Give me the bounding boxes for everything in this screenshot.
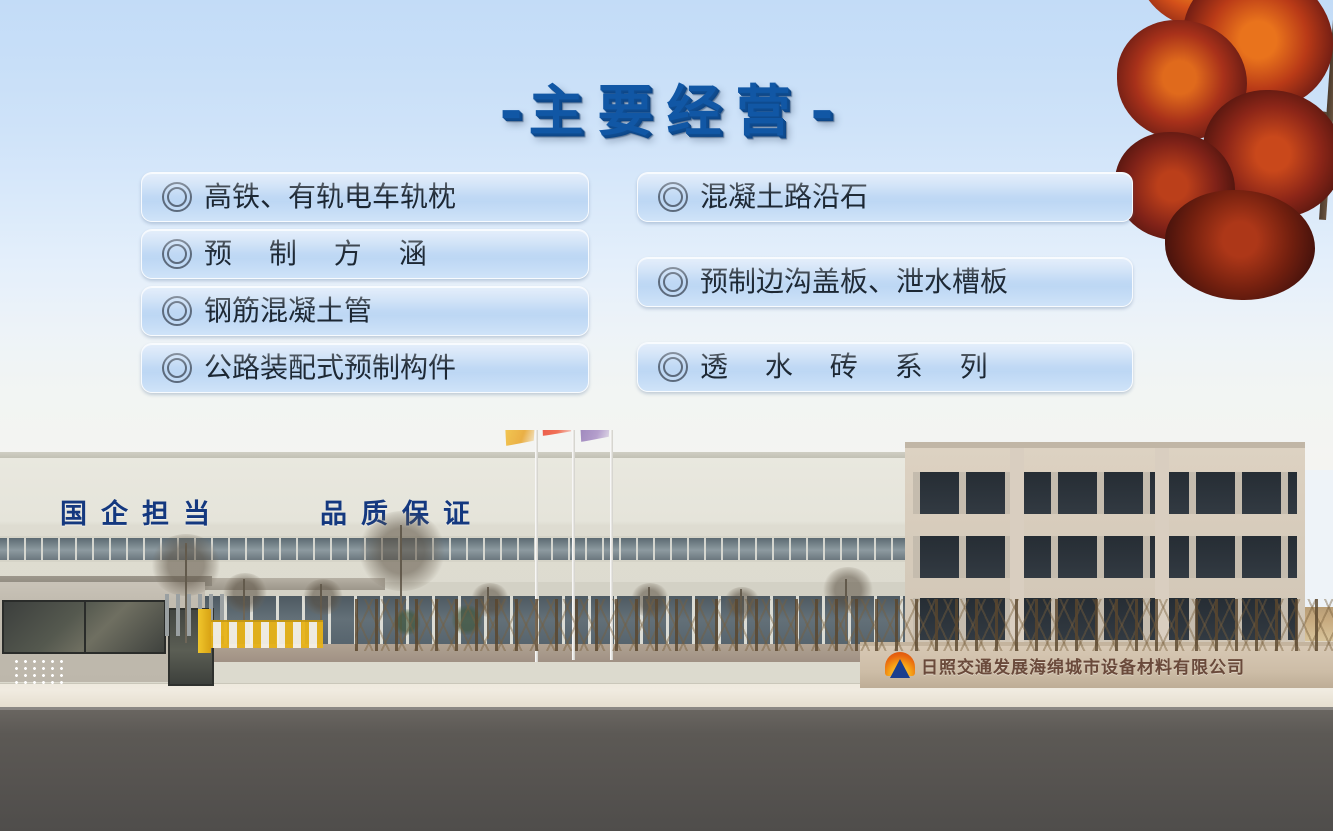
double-circle-bullet-icon xyxy=(162,296,192,326)
service-item[interactable]: 混凝土路沿石 xyxy=(637,172,1133,222)
bare-tree-canopy xyxy=(358,511,446,591)
flag-purple xyxy=(580,430,610,442)
boom-barrier-arm xyxy=(205,620,323,648)
double-circle-bullet-icon xyxy=(162,353,192,383)
retractable-gate xyxy=(355,599,1333,651)
service-label: 高铁、有轨电车轨枕 xyxy=(204,183,456,211)
double-circle-bullet-icon xyxy=(162,239,192,269)
office-window-row xyxy=(913,536,1297,578)
service-label: 透 水 砖 系 列 xyxy=(700,353,1002,381)
double-circle-bullet-icon xyxy=(658,352,688,382)
service-item[interactable]: 公路装配式预制构件 xyxy=(141,343,589,393)
flag-red xyxy=(542,430,572,436)
service-item[interactable]: 透 水 砖 系 列 xyxy=(637,342,1133,392)
double-circle-bullet-icon xyxy=(162,182,192,212)
factory-photo: 国企担当 品质保证 日照交通发展海绵城市设备材料有限公司 xyxy=(0,430,1333,831)
asphalt-road xyxy=(0,707,1333,831)
company-name-text: 日照交通发展海绵城市设备材料有限公司 xyxy=(921,653,1245,678)
sun-mountain-logo-icon xyxy=(885,652,915,678)
office-window-row xyxy=(913,472,1297,514)
service-label: 公路装配式预制构件 xyxy=(204,354,456,382)
service-item[interactable]: 预制边沟盖板、泄水槽板 xyxy=(637,257,1133,307)
flag-yellow xyxy=(505,430,535,446)
factory-clerestory-mullions xyxy=(0,538,930,560)
service-item[interactable]: 预 制 方 涵 xyxy=(141,229,589,279)
bare-tree-canopy xyxy=(302,579,344,615)
service-list-right: 混凝土路沿石 预制边沟盖板、泄水槽板 透 水 砖 系 列 xyxy=(637,172,1133,392)
double-circle-bullet-icon xyxy=(658,267,688,297)
service-label: 钢筋混凝土管 xyxy=(204,297,372,325)
factory-sign-left: 国企担当 xyxy=(60,492,224,531)
poster-canvas: 国企担当 品质保证 日照交通发展海绵城市设备材料有限公司 xyxy=(0,0,1333,831)
service-label: 混凝土路沿石 xyxy=(700,183,868,211)
company-nameplate: 日照交通发展海绵城市设备材料有限公司 xyxy=(885,652,1245,678)
service-label: 预制边沟盖板、泄水槽板 xyxy=(700,268,1008,296)
bare-tree-canopy xyxy=(150,534,222,596)
service-label: 预 制 方 涵 xyxy=(204,240,441,268)
service-list-left: 高铁、有轨电车轨枕 预 制 方 涵 钢筋混凝土管 公路装配式预制构件 xyxy=(141,172,589,393)
double-circle-bullet-icon xyxy=(658,182,688,212)
boom-barrier-post xyxy=(198,609,211,653)
guard-house-window xyxy=(2,600,166,654)
wall-vent-grille-icon xyxy=(12,658,64,684)
service-item[interactable]: 钢筋混凝土管 xyxy=(141,286,589,336)
service-item[interactable]: 高铁、有轨电车轨枕 xyxy=(141,172,589,222)
autumn-tree xyxy=(1113,0,1333,280)
bare-tree-canopy xyxy=(222,573,268,613)
